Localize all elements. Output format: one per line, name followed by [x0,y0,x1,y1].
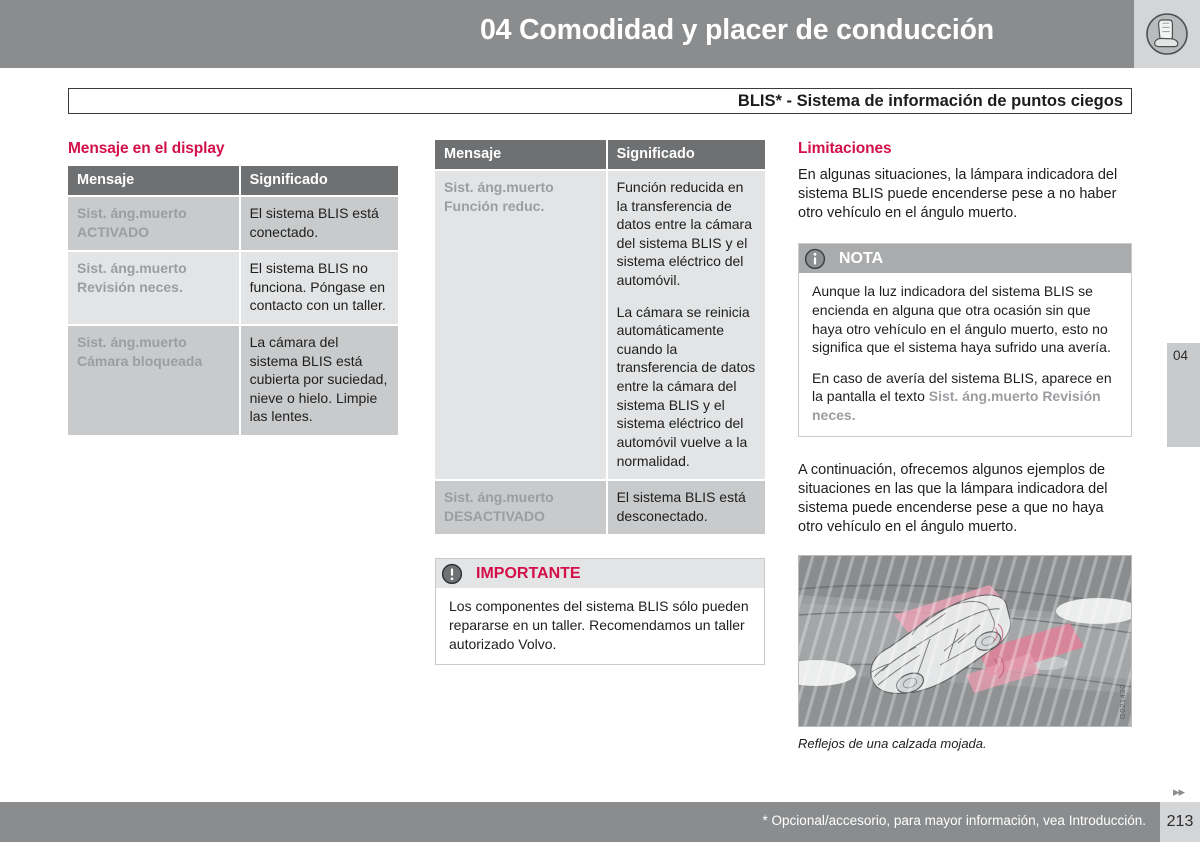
important-box-paragraph: Los componentes del sistema BLIS sólo pu… [449,597,754,653]
note-box-body: Aunque la luz indicadora del sistema BLI… [799,273,1131,435]
next-page-arrows-icon: ▸▸ [1173,784,1184,800]
section-title: BLIS* - Sistema de información de puntos… [738,92,1123,111]
display-message-table: Mensaje Significado Sist. áng.muerto ACT… [68,166,398,435]
cell-meaning: El sistema BLIS no funciona. Póngase en … [240,251,398,325]
cell-meaning: El sistema BLIS está conectado. [240,196,398,251]
important-box: IMPORTANTE Los componentes del sistema B… [435,558,765,665]
exclamation-circle-icon [441,563,463,585]
cell-message: Sist. áng.muerto Revisión neces. [68,251,240,325]
cell-message: Sist. áng.muerto DESACTIVADO [435,480,607,534]
table-row: Sist. áng.muerto Función reduc. Función … [435,170,765,480]
figure-caption: Reflejos de una calzada mojada. [798,736,1132,751]
cell-message: Sist. áng.muerto Función reduc. [435,170,607,480]
meaning-paragraph: La cámara se reinicia automáticamente cu… [617,303,756,470]
table-header-row: Mensaje Significado [68,166,398,196]
table-row: Sist. áng.muerto Revisión neces. El sist… [68,251,398,325]
chapter-title: 04 Comodidad y placer de conducción [480,14,994,47]
column-right: Limitaciones En algunas situaciones, la … [798,140,1132,751]
page-header: 04 Comodidad y placer de conducción [0,0,1200,68]
footer-base-strip [0,842,1200,847]
limitations-intro-paragraph: En algunas situaciones, la lámpara indic… [798,166,1132,223]
left-column-heading: Mensaje en el display [68,140,398,158]
table-row: Sist. áng.muerto ACTIVADO El sistema BLI… [68,196,398,251]
car-seat-icon [1143,10,1191,58]
meaning-paragraph: Función reducida en la transferencia de … [617,178,756,290]
footer-bar: * Opcional/accesorio, para mayor informa… [0,802,1160,842]
cell-meaning: El sistema BLIS está desconectado. [607,480,765,534]
column-left: Mensaje en el display Mensaje Significad… [68,140,398,435]
display-message-table-continued: Mensaje Significado Sist. áng.muerto Fun… [435,140,765,534]
note-paragraph-2: En caso de avería del sistema BLIS, apar… [812,369,1121,425]
header-divider [0,68,1200,71]
figure-wet-road-reflections: G021430 [798,555,1132,727]
chapter-side-tab-label: 04 [1173,348,1188,363]
note-box: NOTA Aunque la luz indicadora del sistem… [798,243,1132,436]
column-header-mensaje: Mensaje [68,166,240,196]
cell-meaning: Función reducida en la transferencia de … [607,170,765,480]
table-row: Sist. áng.muerto Cámara bloqueada La cám… [68,325,398,435]
column-header-significado: Significado [240,166,398,196]
note-box-header: NOTA [799,244,1131,273]
limitations-outro-paragraph: A continuación, ofrecemos algunos ejempl… [798,461,1132,538]
column-header-significado: Significado [607,140,765,170]
important-box-body: Los componentes del sistema BLIS sólo pu… [436,588,764,664]
figure-code: G021430 [1118,684,1127,719]
footer-note: * Opcional/accesorio, para mayor informa… [763,813,1146,828]
column-header-mensaje: Mensaje [435,140,607,170]
page-number-box: 213 [1160,802,1200,842]
right-column-heading: Limitaciones [798,140,1132,158]
cell-meaning: La cámara del sistema BLIS está cubierta… [240,325,398,435]
chapter-icon-box [1134,0,1200,68]
manual-page: 04 Comodidad y placer de conducción BLIS… [0,0,1200,847]
table-header-row: Mensaje Significado [435,140,765,170]
section-title-bar: BLIS* - Sistema de información de puntos… [68,88,1132,114]
column-middle: Mensaje Significado Sist. áng.muerto Fun… [435,140,765,665]
important-box-label: IMPORTANTE [472,565,581,583]
chapter-side-tab: 04 [1167,343,1200,447]
cell-message: Sist. áng.muerto ACTIVADO [68,196,240,251]
info-circle-icon [804,248,826,270]
cell-message: Sist. áng.muerto Cámara bloqueada [68,325,240,435]
note-paragraph-1: Aunque la luz indicadora del sistema BLI… [812,282,1121,356]
figure-illustration [798,555,1132,727]
page-number: 213 [1167,813,1194,831]
important-box-header: IMPORTANTE [436,559,764,588]
table-row: Sist. áng.muerto DESACTIVADO El sistema … [435,480,765,534]
note-box-label: NOTA [835,250,883,268]
